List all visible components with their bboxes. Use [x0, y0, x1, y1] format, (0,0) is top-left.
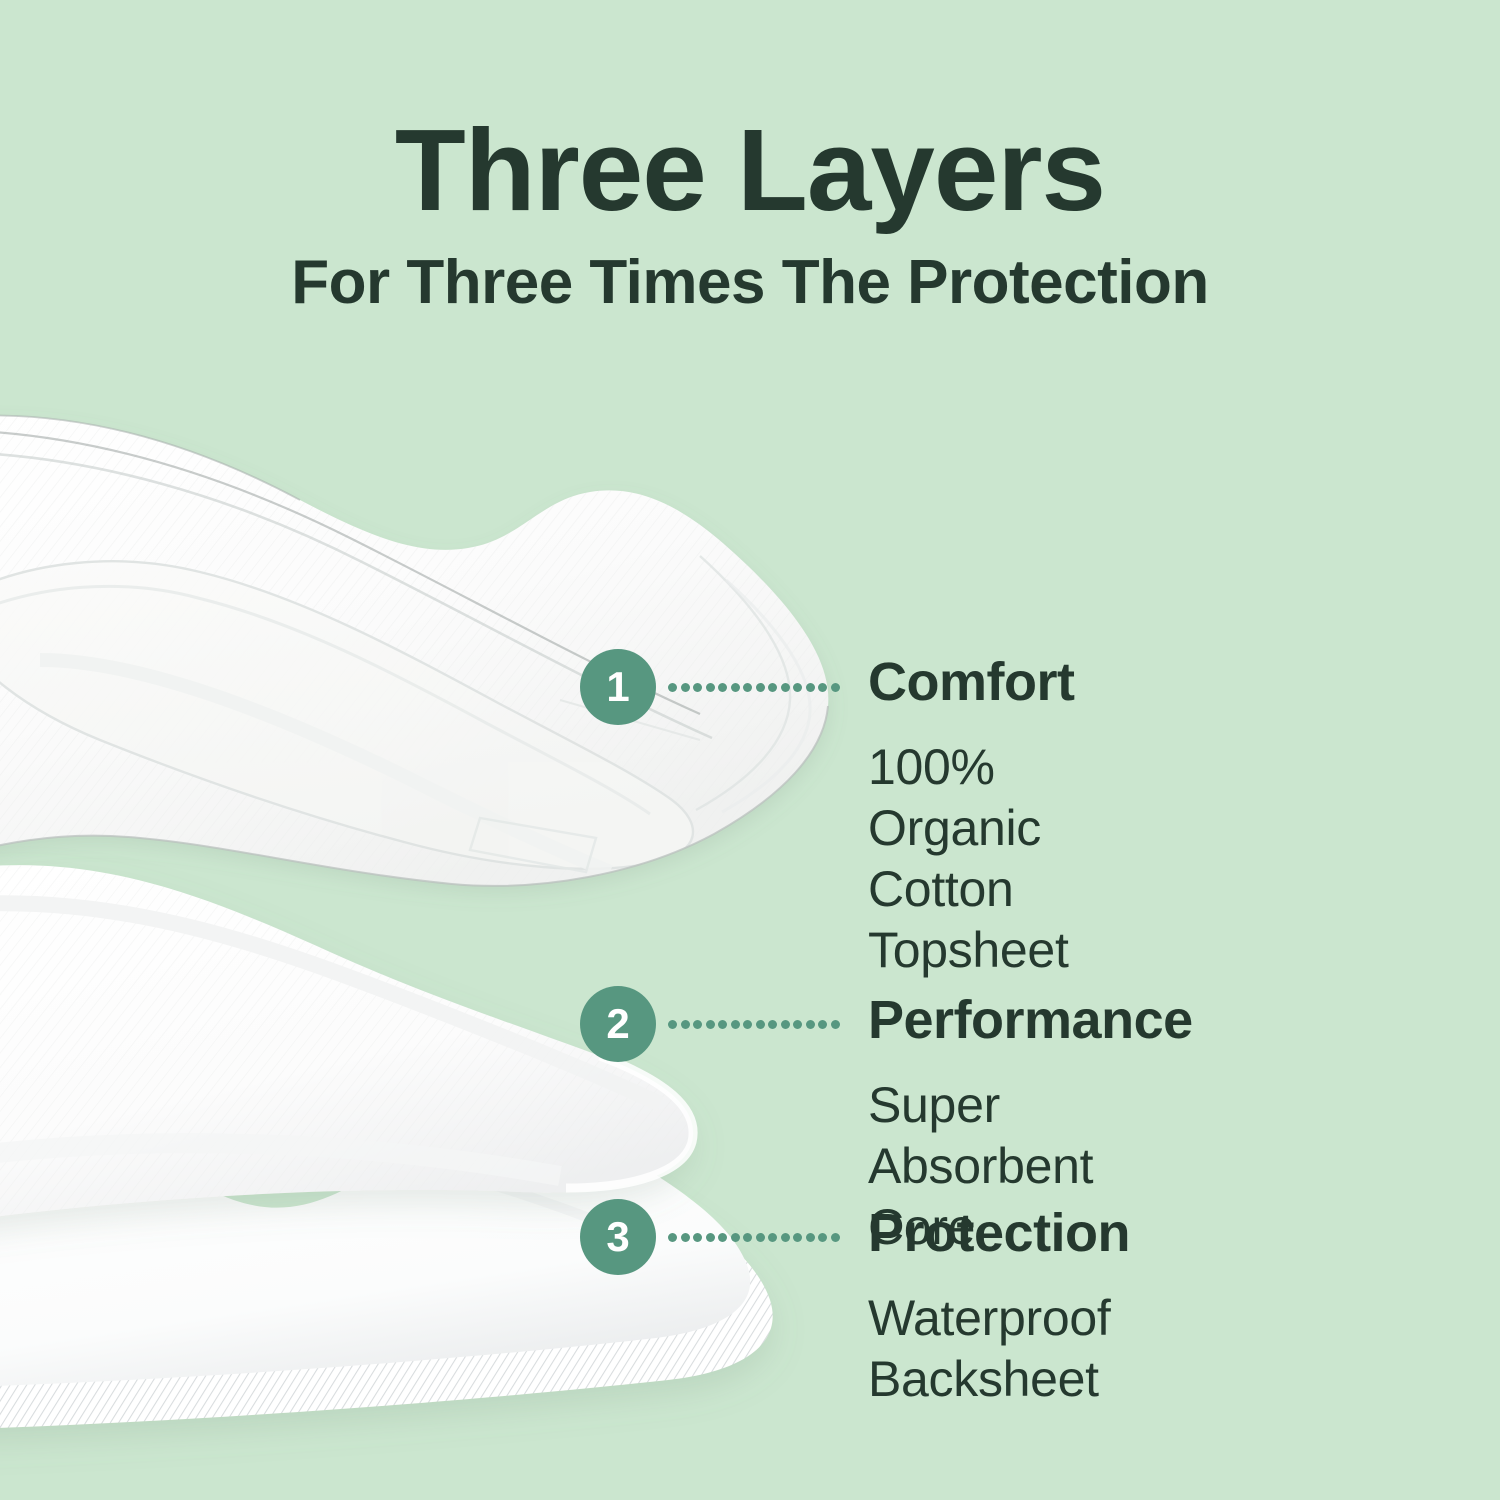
connector-dots-3	[668, 1232, 840, 1242]
callout-heading-3: Protection	[868, 1206, 1130, 1260]
backsheet-layer	[0, 1113, 773, 1430]
three-layers-infographic: Three Layers For Three Times The Protect…	[0, 0, 1500, 1500]
callout-description-1: 100% Organic Cotton Topsheet	[868, 709, 1074, 981]
absorbent-core-layer	[0, 860, 940, 1240]
callout-heading-2: Performance	[868, 993, 1193, 1047]
connector-dots-2	[668, 1019, 840, 1029]
callout-description-3: Waterproof Backsheet	[868, 1260, 1130, 1410]
callout-badge-2[interactable]: 2	[580, 986, 656, 1062]
connector-dots-1	[668, 682, 840, 692]
callout-badge-3[interactable]: 3	[580, 1199, 656, 1275]
page-subtitle: For Three Times The Protection	[0, 228, 1500, 314]
page-title: Three Layers	[0, 0, 1500, 228]
header-block: Three Layers For Three Times The Protect…	[0, 0, 1500, 314]
callout-text-1: Comfort 100% Organic Cotton Topsheet	[868, 655, 1074, 981]
callout-text-3: Protection Waterproof Backsheet	[868, 1206, 1130, 1410]
callout-heading-1: Comfort	[868, 655, 1074, 709]
topsheet-layer	[0, 400, 900, 920]
callout-badge-1[interactable]: 1	[580, 649, 656, 725]
